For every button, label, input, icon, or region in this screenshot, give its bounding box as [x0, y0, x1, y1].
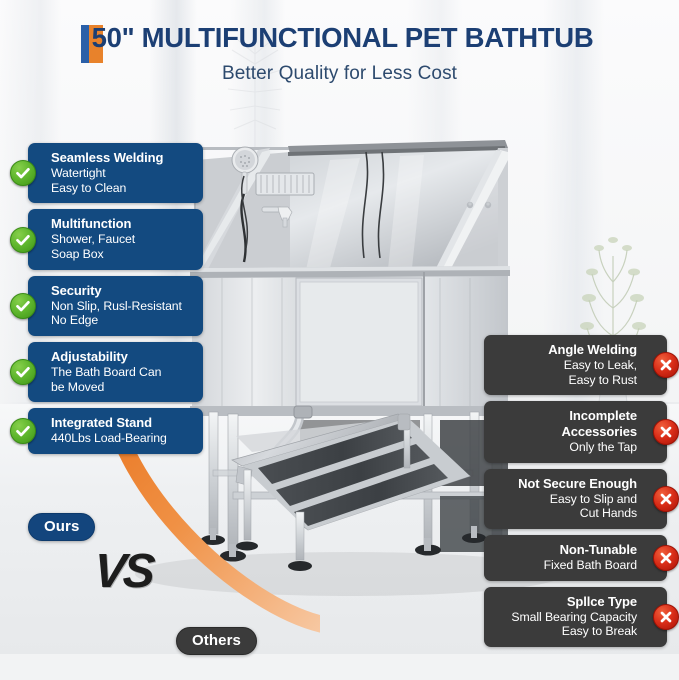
pros-feature-list: Seamless WeldingWatertightEasy to CleanM… [28, 143, 203, 460]
cons-item: Incomplete AccessoriesOnly the Tap [484, 401, 667, 462]
page-subtitle: Better Quality for Less Cost [0, 63, 679, 85]
pros-item-detail: No Edge [51, 313, 193, 328]
pros-item-detail: The Bath Board Can [51, 365, 193, 380]
check-icon [10, 227, 36, 253]
pros-item-title: Seamless Welding [51, 150, 193, 166]
others-label-badge: Others [176, 627, 257, 655]
pros-item-detail: Non Slip, Rusl-Resistant [51, 299, 193, 314]
pros-item-detail: be Moved [51, 380, 193, 395]
cons-item-detail: Fixed Bath Board [494, 558, 637, 573]
pros-item-title: Multifunction [51, 216, 193, 232]
cons-item-title: Non-Tunable [494, 542, 637, 558]
cross-icon [653, 419, 679, 445]
check-icon [10, 359, 36, 385]
pros-item: Integrated Stand440Lbs Load-Bearing [28, 408, 203, 454]
check-icon [10, 418, 36, 444]
cons-item-title: Angle Welding [494, 342, 637, 358]
pros-item-detail: Shower, Faucet [51, 232, 193, 247]
cons-item-detail: Easy to Leak, [494, 358, 637, 373]
cross-icon [653, 545, 679, 571]
header: 50" MULTIFUNCTIONAL PET BATHTUB Better Q… [0, 0, 679, 85]
cons-item: Not Secure EnoughEasy to Slip andCut Han… [484, 469, 667, 529]
cross-icon [653, 352, 679, 378]
pros-item-detail: Watertight [51, 166, 193, 181]
cons-item-detail: Small Bearing Capacity [494, 610, 637, 625]
pros-item: AdjustabilityThe Bath Board Canbe Moved [28, 342, 203, 402]
cons-feature-list: Angle WeldingEasy to Leak,Easy to RustIn… [484, 335, 667, 653]
cross-icon [653, 604, 679, 630]
pros-item: SecurityNon Slip, Rusl-ResistantNo Edge [28, 276, 203, 336]
check-icon [10, 160, 36, 186]
cons-item-detail: Easy to Rust [494, 373, 637, 388]
cons-item: Angle WeldingEasy to Leak,Easy to Rust [484, 335, 667, 395]
cons-item-title: Not Secure Enough [494, 476, 637, 492]
cons-item-detail: Only the Tap [494, 440, 637, 455]
check-icon [10, 293, 36, 319]
cons-item-detail: Easy to Break [494, 624, 637, 639]
pros-item-detail: Soap Box [51, 247, 193, 262]
cons-item-title: Incomplete Accessories [494, 408, 637, 440]
pros-item-title: Adjustability [51, 349, 193, 365]
versus-label: VS [92, 548, 153, 596]
pros-item-detail: 440Lbs Load-Bearing [51, 431, 193, 446]
pros-item: MultifunctionShower, FaucetSoap Box [28, 209, 203, 269]
pros-item-title: Security [51, 283, 193, 299]
cons-item: Spllce TypeSmall Bearing CapacityEasy to… [484, 587, 667, 647]
pros-item: Seamless WeldingWatertightEasy to Clean [28, 143, 203, 203]
cons-item: Non-TunableFixed Bath Board [484, 535, 667, 581]
pros-item-detail: Easy to Clean [51, 181, 193, 196]
cons-item-detail: Cut Hands [494, 506, 637, 521]
title-wrapper: 50" MULTIFUNCTIONAL PET BATHTUB [86, 22, 594, 54]
cross-icon [653, 486, 679, 512]
cons-item-title: Spllce Type [494, 594, 637, 610]
page-title: 50" MULTIFUNCTIONAL PET BATHTUB [86, 22, 594, 54]
cons-item-detail: Easy to Slip and [494, 492, 637, 507]
ours-label-badge: Ours [28, 513, 95, 541]
pros-item-title: Integrated Stand [51, 415, 193, 431]
